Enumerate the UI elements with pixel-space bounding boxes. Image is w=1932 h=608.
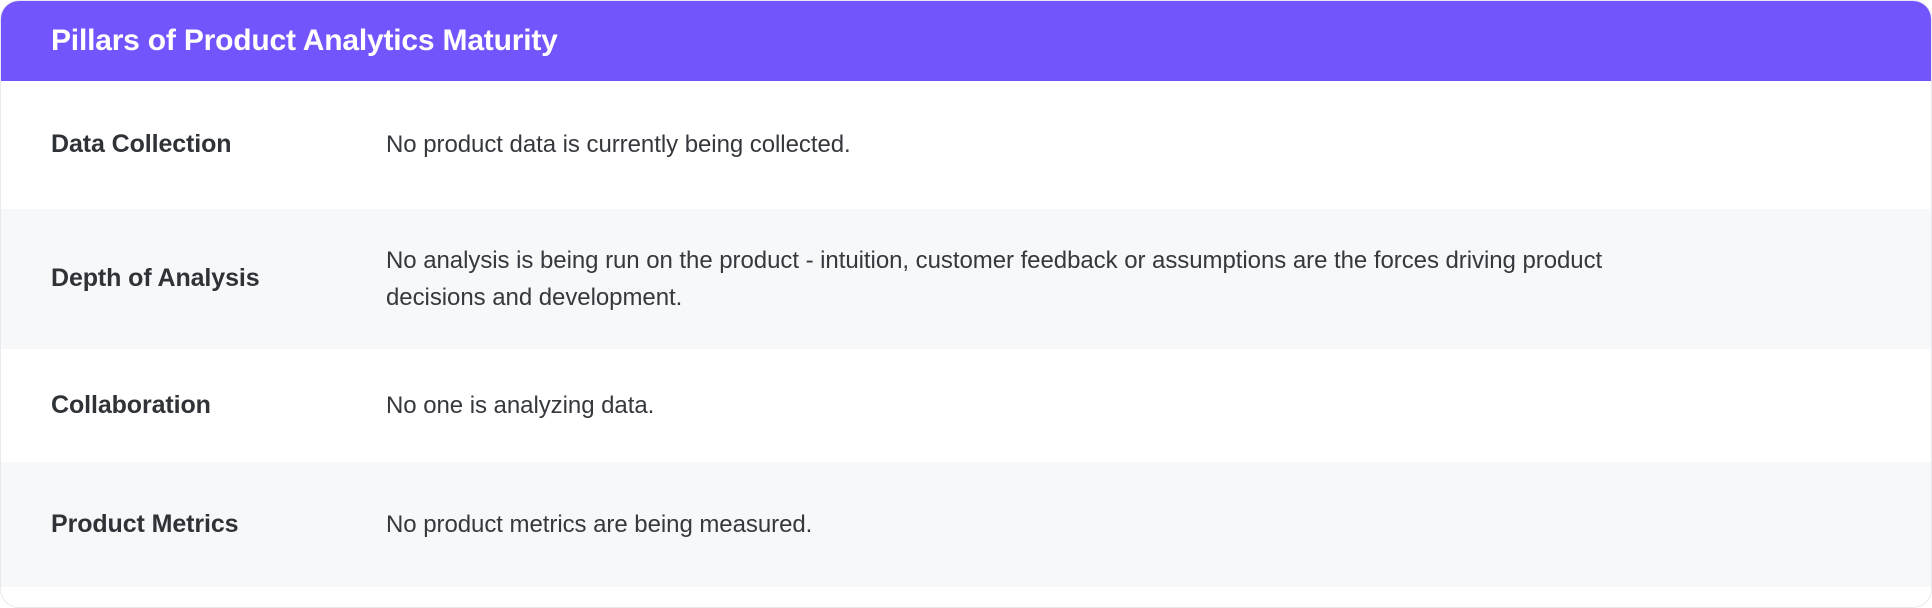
table-row: Product Metrics No product metrics are b… <box>1 462 1931 587</box>
pillar-label: Depth of Analysis <box>51 263 386 294</box>
card-header: Pillars of Product Analytics Maturity <box>1 1 1931 81</box>
pillar-description: No one is analyzing data. <box>386 387 1636 424</box>
table-row: Depth of Analysis No analysis is being r… <box>1 209 1931 349</box>
pillars-table: Data Collection No product data is curre… <box>1 81 1931 587</box>
pillar-label: Data Collection <box>51 129 386 160</box>
pillar-description: No product metrics are being measured. <box>386 506 1636 543</box>
page-title: Pillars of Product Analytics Maturity <box>51 23 558 59</box>
pillar-label: Collaboration <box>51 390 386 421</box>
pillar-description: No analysis is being run on the product … <box>386 242 1636 316</box>
maturity-pillars-card: Pillars of Product Analytics Maturity Da… <box>0 0 1932 608</box>
pillar-description: No product data is currently being colle… <box>386 126 1636 163</box>
table-row: Collaboration No one is analyzing data. <box>1 349 1931 462</box>
table-row: Data Collection No product data is curre… <box>1 81 1931 209</box>
pillar-label: Product Metrics <box>51 509 386 540</box>
